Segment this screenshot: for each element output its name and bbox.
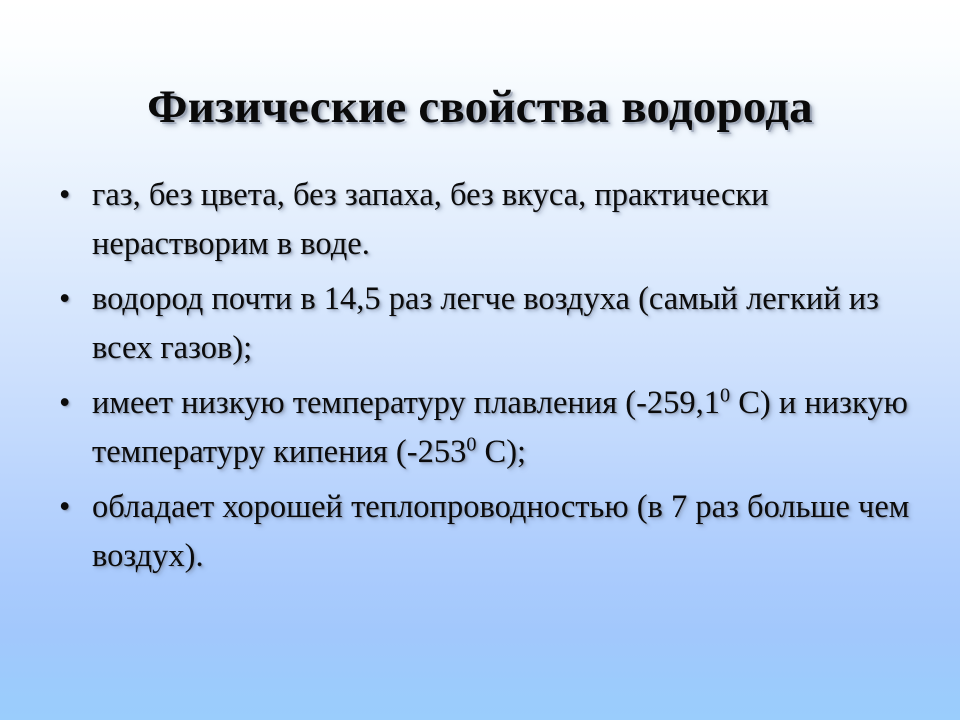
bullet-list: • газ, без цвета, без запаха, без вкуса,… xyxy=(52,171,932,580)
degree-superscript: 0 xyxy=(720,385,730,407)
title-block: Физические свойства водорода xyxy=(0,52,960,164)
list-item-text: обладает хорошей теплопроводностью (в 7 … xyxy=(92,483,932,580)
temperature-tail-text: C); xyxy=(476,434,526,470)
bullet-dot-icon: • xyxy=(59,379,79,428)
list-item-text: имеет низкую температуру плавления (-259… xyxy=(92,379,932,476)
list-item-text: газ, без цвета, без запаха, без вкуса, п… xyxy=(92,171,932,268)
list-item: • имеет низкую температуру плавления (-2… xyxy=(52,379,932,476)
bullet-dot-icon: • xyxy=(59,171,79,220)
bullet-dot-icon: • xyxy=(59,483,79,532)
presentation-slide: Физические свойства водорода • газ, без … xyxy=(0,0,960,720)
list-item-text: водород почти в 14,5 раз легче воздуха (… xyxy=(92,275,932,372)
page-title: Физические свойства водорода xyxy=(147,83,813,132)
bullet-dot-icon: • xyxy=(59,275,79,324)
list-item: • газ, без цвета, без запаха, без вкуса,… xyxy=(52,171,932,268)
list-item: • обладает хорошей теплопроводностью (в … xyxy=(52,483,932,580)
list-item: • водород почти в 14,5 раз легче воздуха… xyxy=(52,275,932,372)
degree-superscript: 0 xyxy=(466,433,476,455)
melting-point-text: имеет низкую температуру плавления (-259… xyxy=(92,385,720,421)
